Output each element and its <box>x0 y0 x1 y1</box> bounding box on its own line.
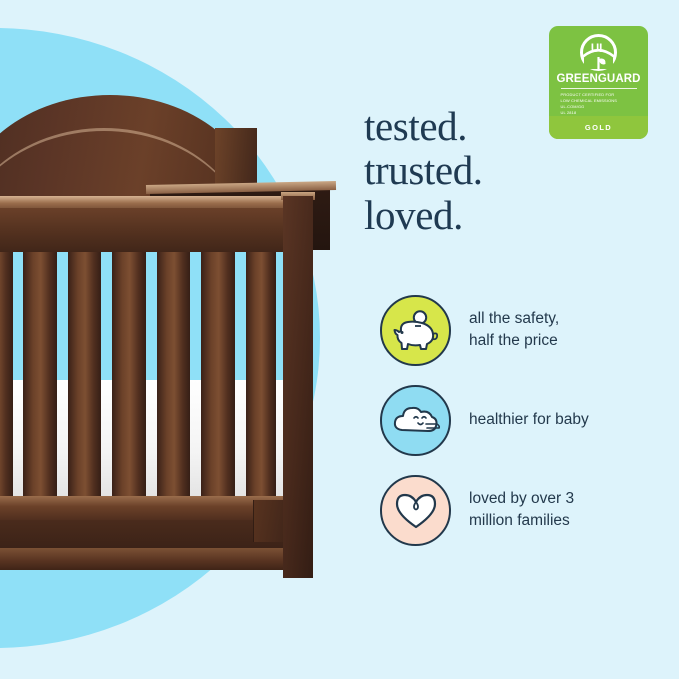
promo-image-canvas: UL GREENGUARD PRODUCT CERTIFIED FOR LOW … <box>0 0 679 679</box>
feature-item-loved: loved by over 3 million families <box>380 472 650 548</box>
badge-brand-name: GREENGUARD <box>556 73 640 85</box>
crib-corner-post <box>283 196 313 578</box>
feature-label-safety-price: all the safety, half the price <box>469 308 559 353</box>
crib-front-upper-rail <box>0 208 310 252</box>
badge-divider <box>561 88 637 89</box>
svg-text:UL: UL <box>591 43 606 55</box>
feature-label-line-2: half the price <box>469 330 559 352</box>
crib-slat <box>0 248 13 500</box>
feature-label-line-2: million families <box>469 510 574 532</box>
headline-line-2: trusted. <box>364 148 483 192</box>
badge-tier-label: GOLD <box>585 123 612 132</box>
heart-icon <box>380 475 451 546</box>
feature-label-line-1: all the safety, <box>469 308 559 330</box>
crib-slats <box>0 248 290 500</box>
headline-line-3: loved. <box>364 193 483 237</box>
ul-leaf-mark-icon: UL <box>579 33 618 72</box>
crib-slat <box>23 248 57 500</box>
page-title: tested. trusted. loved. <box>364 104 483 237</box>
crib-slat <box>112 248 146 500</box>
piggy-bank-icon <box>380 295 451 366</box>
smiling-cloud-icon <box>380 385 451 456</box>
badge-tier-band: GOLD <box>549 116 648 139</box>
feature-label-loved: loved by over 3 million families <box>469 488 574 533</box>
crib-product-photo <box>0 0 345 679</box>
feature-list: all the safety, half the price healthier… <box>380 292 650 562</box>
crib-slat <box>68 248 101 500</box>
feature-label-line-1: loved by over 3 <box>469 488 574 510</box>
feature-label-healthier: healthier for baby <box>469 409 589 431</box>
crib-slat <box>246 248 276 500</box>
feature-label-line-1: healthier for baby <box>469 409 589 431</box>
feature-item-safety-price: all the safety, half the price <box>380 292 650 368</box>
crib-slat <box>157 248 190 500</box>
crib-joint-block <box>253 500 285 542</box>
feature-item-healthier: healthier for baby <box>380 382 650 458</box>
headline-line-1: tested. <box>364 104 483 148</box>
crib-slat <box>201 248 235 500</box>
crib-lower-rail-bottom <box>0 548 300 570</box>
badge-fine-print: PRODUCT CERTIFIED FOR LOW CHEMICAL EMISS… <box>561 92 637 116</box>
greenguard-gold-badge: UL GREENGUARD PRODUCT CERTIFIED FOR LOW … <box>549 26 648 139</box>
